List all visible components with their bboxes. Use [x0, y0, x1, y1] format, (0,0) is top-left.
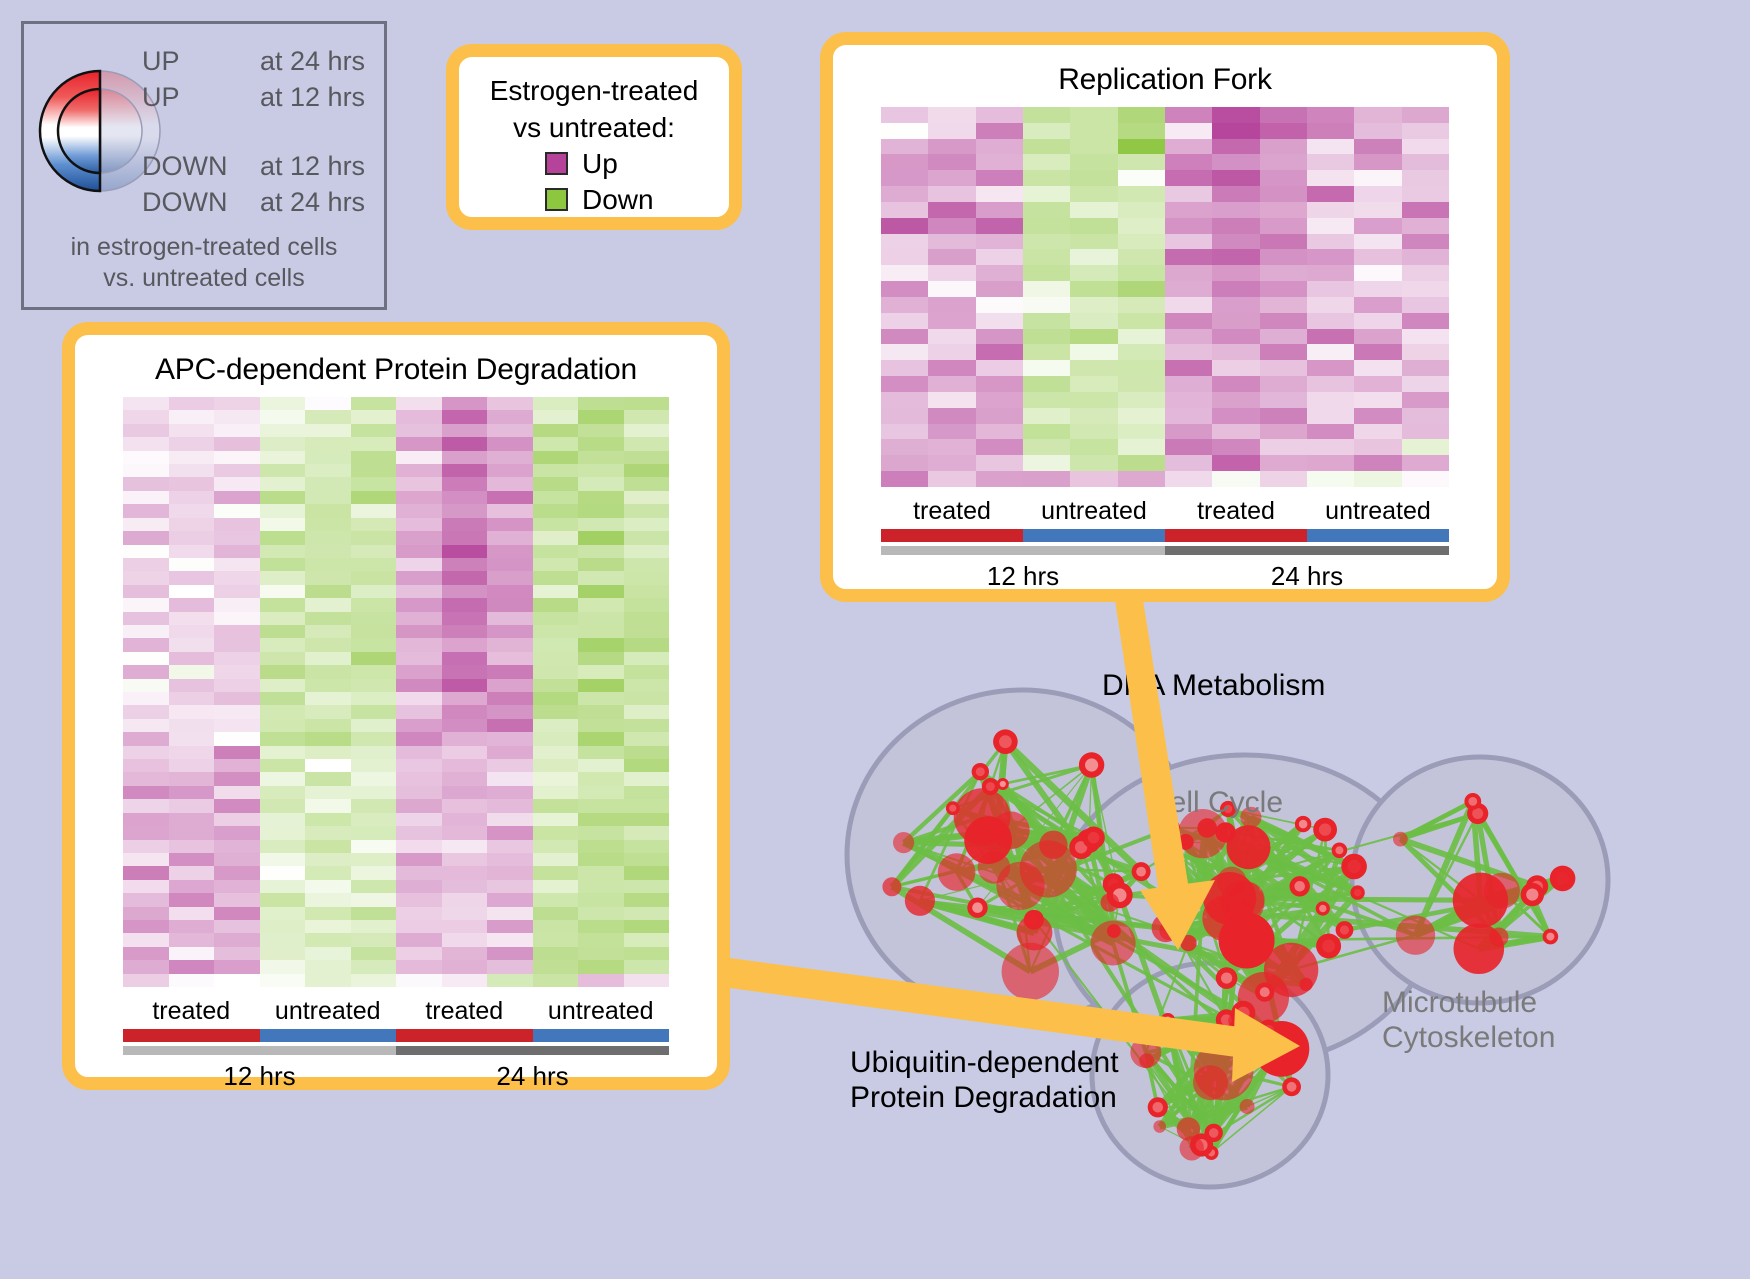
network-node [1017, 915, 1053, 951]
heatmap-cell [305, 571, 351, 584]
heatmap-cell [214, 799, 260, 812]
heatmap-cell [1118, 186, 1165, 202]
heatmap-cell [533, 907, 579, 920]
heatmap-cell [169, 880, 215, 893]
heatmap-cell [1307, 313, 1354, 329]
heatmap-cell [624, 826, 670, 839]
network-node [1101, 893, 1120, 912]
heatmap-cell [1354, 408, 1401, 424]
heatmap-cell [533, 571, 579, 584]
heatmap-cell [214, 451, 260, 464]
heatmap-cell [1070, 360, 1117, 376]
heatmap-cell [1070, 455, 1117, 471]
heatmap-cell [260, 759, 306, 772]
heatmap-cell [487, 772, 533, 785]
heatmap-cell [976, 329, 1023, 345]
heatmap-cell [351, 853, 397, 866]
heatmap-cell [351, 759, 397, 772]
network-node [1228, 1014, 1242, 1028]
heatmap-cell [578, 705, 624, 718]
heatmap-cell [928, 329, 975, 345]
heatmap-cell [442, 585, 488, 598]
heatmap-cell [976, 360, 1023, 376]
heatmap-cell [1402, 234, 1449, 250]
heatmap-cell [1354, 249, 1401, 265]
heatmap-cell [351, 531, 397, 544]
heatmap-cell [1165, 329, 1212, 345]
heatmap-cell [578, 545, 624, 558]
heatmap-cell [1260, 313, 1307, 329]
network-node-fade [1136, 867, 1146, 877]
heatmap-cell [533, 705, 579, 718]
network-node-fade [1165, 846, 1174, 855]
heatmap-cell [1118, 392, 1165, 408]
heatmap-cell [214, 585, 260, 598]
heatmap-cell [396, 772, 442, 785]
apc-panel: APC-dependent Protein Degradation treate… [62, 322, 730, 1090]
heatmap-cell [442, 786, 488, 799]
heatmap-cell [305, 491, 351, 504]
heatmap-cell [1070, 471, 1117, 487]
heatmap-cell [305, 424, 351, 437]
heatmap-cell [260, 840, 306, 853]
apc-time-label-24hrs: 24 hrs [396, 1061, 669, 1092]
heatmap-cell [260, 518, 306, 531]
heatmap-cell [578, 799, 624, 812]
heatmap-cell [260, 772, 306, 785]
heatmap-cell [123, 410, 169, 423]
heatmap-cell [214, 893, 260, 906]
heatmap-cell [881, 392, 928, 408]
heatmap-cell [1165, 297, 1212, 313]
heatmap-cell [1165, 360, 1212, 376]
replication-fork-time-labels: 12 hrs 24 hrs [881, 561, 1449, 592]
heatmap-cell [624, 518, 670, 531]
key-time-down-24: at 24 hrs [260, 187, 365, 217]
heatmap-cell [214, 625, 260, 638]
heatmap-cell [624, 612, 670, 625]
heatmap-cell [578, 437, 624, 450]
heatmap-cell [1070, 202, 1117, 218]
heatmap-cell [533, 625, 579, 638]
heatmap-cell [1402, 123, 1449, 139]
heatmap-cell [123, 652, 169, 665]
heatmap-cell [624, 464, 670, 477]
heatmap-cell [305, 477, 351, 490]
heatmap-cell [169, 786, 215, 799]
heatmap-cell [928, 154, 975, 170]
heatmap-cell [442, 799, 488, 812]
heatmap-cell [123, 826, 169, 839]
heatmap-cell [533, 679, 579, 692]
network-node [1489, 928, 1508, 947]
heatmap-cell [123, 464, 169, 477]
heatmap-cell [260, 679, 306, 692]
heatmap-cell [1260, 249, 1307, 265]
heatmap-cell [214, 518, 260, 531]
heatmap-cell [123, 504, 169, 517]
heatmap-cell [487, 866, 533, 879]
heatmap-cell [260, 880, 306, 893]
heatmap-cell [1307, 154, 1354, 170]
heatmap-cell [123, 397, 169, 410]
heatmap-cell [1023, 186, 1070, 202]
heatmap-cell [396, 665, 442, 678]
heatmap-cell [123, 665, 169, 678]
heatmap-cell [487, 732, 533, 745]
heatmap-cell [533, 947, 579, 960]
heatmap-cell [928, 281, 975, 297]
heatmap-cell [169, 759, 215, 772]
time-bar-24hrs [1165, 546, 1449, 555]
heatmap-cell [260, 451, 306, 464]
heatmap-cell [928, 297, 975, 313]
heatmap-cell [578, 920, 624, 933]
heatmap-cell [442, 665, 488, 678]
heatmap-cell [351, 692, 397, 705]
network-node-fade [1085, 758, 1098, 771]
heatmap-cell [487, 933, 533, 946]
heatmap-cell [1118, 297, 1165, 313]
heatmap-cell [169, 625, 215, 638]
heatmap-cell [881, 202, 928, 218]
group-label-treated-12: treated [881, 497, 1023, 526]
heatmap-cell [214, 665, 260, 678]
network-node-fade [1526, 889, 1538, 901]
heatmap-cell [260, 746, 306, 759]
heatmap-cell [1118, 281, 1165, 297]
heatmap-cell [1260, 234, 1307, 250]
heatmap-cell [533, 558, 579, 571]
heatmap-cell [305, 960, 351, 973]
network-node-fade [949, 805, 956, 812]
heatmap-cell [533, 692, 579, 705]
heatmap-cell [578, 692, 624, 705]
heatmap-cell [1354, 455, 1401, 471]
heatmap-cell [624, 451, 670, 464]
heatmap-cell [305, 464, 351, 477]
heatmap-cell [305, 705, 351, 718]
heatmap-cell [1118, 455, 1165, 471]
heatmap-cell [1118, 123, 1165, 139]
label-ubiquitin-line2: Protein Degradation [850, 1080, 1117, 1115]
heatmap-cell [169, 866, 215, 879]
heatmap-cell [396, 746, 442, 759]
heatmap-cell [487, 504, 533, 517]
heatmap-cell [214, 612, 260, 625]
heatmap-cell [169, 732, 215, 745]
heatmap-cell [1307, 249, 1354, 265]
heatmap-cell [1070, 424, 1117, 440]
heatmap-cell [881, 234, 928, 250]
heatmap-cell [578, 719, 624, 732]
heatmap-cell [305, 612, 351, 625]
heatmap-cell [1165, 313, 1212, 329]
heatmap-cell [396, 638, 442, 651]
heatmap-cell [305, 840, 351, 853]
heatmap-cell [214, 504, 260, 517]
heatmap-cell [1260, 170, 1307, 186]
heatmap-cell [624, 625, 670, 638]
heatmap-cell [624, 437, 670, 450]
heatmap-cell [487, 746, 533, 759]
heatmap-cell [624, 692, 670, 705]
heatmap-cell [578, 772, 624, 785]
heatmap-cell [976, 344, 1023, 360]
heatmap-cell [1260, 329, 1307, 345]
heatmap-cell [123, 732, 169, 745]
heatmap-cell [1402, 170, 1449, 186]
network-node-fade [999, 735, 1012, 748]
heatmap-cell [1212, 360, 1259, 376]
heatmap-cell [487, 705, 533, 718]
heatmap-cell [1118, 139, 1165, 155]
heatmap-cell [487, 558, 533, 571]
heatmap-cell [533, 477, 579, 490]
heatmap-cell [1354, 360, 1401, 376]
heatmap-cell [578, 598, 624, 611]
apc-time-bar-24hrs [396, 1046, 669, 1055]
heatmap-cell [487, 410, 533, 423]
heatmap-cell [928, 265, 975, 281]
heatmap-cell [1307, 471, 1354, 487]
heatmap-cell [624, 974, 670, 987]
heatmap-cell [624, 638, 670, 651]
heatmap-cell [1212, 424, 1259, 440]
heatmap-cell [928, 202, 975, 218]
heatmap-cell [578, 518, 624, 531]
heatmap-cell [1212, 154, 1259, 170]
heatmap-cell [1354, 392, 1401, 408]
heatmap-cell [533, 437, 579, 450]
heatmap-cell [214, 531, 260, 544]
heatmap-cell [1307, 376, 1354, 392]
heatmap-cell [442, 880, 488, 893]
heatmap-cell [1165, 265, 1212, 281]
heatmap-cell [1023, 265, 1070, 281]
heatmap-cell [1118, 107, 1165, 123]
heatmap-cell [624, 410, 670, 423]
heatmap-cell [305, 732, 351, 745]
heatmap-cell [442, 960, 488, 973]
network-node-fade [1209, 1128, 1219, 1138]
heatmap-cell [1118, 408, 1165, 424]
heatmap-cell [123, 518, 169, 531]
heatmap-cell [305, 504, 351, 517]
heatmap-cell [123, 451, 169, 464]
heatmap-cell [976, 123, 1023, 139]
heatmap-cell [1307, 392, 1354, 408]
heatmap-cell [1212, 234, 1259, 250]
heatmap-cell [214, 759, 260, 772]
heatmap-cell [305, 558, 351, 571]
heatmap-cell [928, 313, 975, 329]
heatmap-cell [214, 853, 260, 866]
heatmap-cell [1354, 439, 1401, 455]
heatmap-cell [260, 920, 306, 933]
heatmap-cell [624, 491, 670, 504]
heatmap-cell [881, 170, 928, 186]
heatmap-cell [487, 813, 533, 826]
network-node-fade [1347, 860, 1360, 873]
heatmap-cell [351, 518, 397, 531]
heatmap-cell [976, 170, 1023, 186]
heatmap-cell [260, 907, 306, 920]
heatmap-cell [1023, 234, 1070, 250]
heatmap-cell [881, 329, 928, 345]
heatmap-cell [578, 732, 624, 745]
legend-swatch-down-icon [545, 188, 568, 211]
heatmap-cell [214, 477, 260, 490]
heatmap-cell [305, 813, 351, 826]
heatmap-cell [1118, 265, 1165, 281]
heatmap-cell [624, 799, 670, 812]
heatmap-cell [305, 933, 351, 946]
heatmap-cell [1307, 123, 1354, 139]
heatmap-cell [214, 652, 260, 665]
heatmap-cell [442, 625, 488, 638]
heatmap-cell [928, 360, 975, 376]
replication-fork-time-bars [881, 546, 1449, 555]
heatmap-cell [214, 545, 260, 558]
network-node [938, 853, 976, 891]
heatmap-cell [1402, 249, 1449, 265]
heatmap-cell [487, 424, 533, 437]
heatmap-cell [1023, 218, 1070, 234]
heatmap-cell [624, 531, 670, 544]
heatmap-cell [123, 907, 169, 920]
heatmap-cell [214, 705, 260, 718]
heatmap-cell [1212, 123, 1259, 139]
heatmap-cell [305, 947, 351, 960]
heatmap-cell [533, 772, 579, 785]
apc-group-label-treated-12: treated [123, 997, 260, 1026]
heatmap-cell [624, 853, 670, 866]
heatmap-cell [1165, 471, 1212, 487]
heatmap-cell [1023, 408, 1070, 424]
heatmap-cell [351, 813, 397, 826]
label-ubiquitin-line1: Ubiquitin-dependent [850, 1045, 1119, 1080]
network-node-fade [1354, 889, 1361, 896]
heatmap-cell [881, 107, 928, 123]
heatmap-cell [396, 397, 442, 410]
heatmap-cell [1023, 424, 1070, 440]
apc-group-label-treated-24: treated [396, 997, 533, 1026]
heatmap-cell [578, 947, 624, 960]
heatmap-cell [928, 471, 975, 487]
legend-item-down: Down [545, 184, 729, 216]
heatmap-cell [976, 186, 1023, 202]
heatmap-cell [1260, 344, 1307, 360]
heatmap-cell [442, 920, 488, 933]
network-node-fade [1322, 940, 1335, 953]
heatmap-cell [881, 439, 928, 455]
heatmap-cell [1212, 218, 1259, 234]
heatmap-cell [578, 625, 624, 638]
heatmap-cell [305, 826, 351, 839]
apc-time-bar-12hrs [123, 1046, 396, 1055]
heatmap-cell [305, 920, 351, 933]
heatmap-cell [487, 893, 533, 906]
heatmap-cell [624, 920, 670, 933]
heatmap-cell [487, 826, 533, 839]
heatmap-cell [1023, 297, 1070, 313]
replication-fork-group-bars [881, 529, 1449, 542]
heatmap-cell [214, 933, 260, 946]
heatmap-cell [351, 772, 397, 785]
heatmap-cell [260, 545, 306, 558]
heatmap-cell [351, 907, 397, 920]
heatmap-cell [1118, 360, 1165, 376]
network-node-fade [1335, 846, 1343, 854]
heatmap-cell [169, 719, 215, 732]
heatmap-cell [260, 960, 306, 973]
heatmap-cell [578, 638, 624, 651]
heatmap-cell [305, 719, 351, 732]
heatmap-cell [1118, 329, 1165, 345]
replication-fork-heatmap-wrap: treated untreated treated untreated 12 h… [881, 107, 1449, 592]
network-node-fade [986, 782, 995, 791]
heatmap-cell [1165, 186, 1212, 202]
heatmap-cell [578, 786, 624, 799]
heatmap-cell [214, 840, 260, 853]
heatmap-cell [1260, 154, 1307, 170]
network-node [1299, 978, 1312, 991]
heatmap-cell [442, 853, 488, 866]
heatmap-cell [214, 907, 260, 920]
heatmap-cell [214, 410, 260, 423]
heatmap-cell [533, 545, 579, 558]
heatmap-cell [442, 826, 488, 839]
heatmap-cell [1118, 170, 1165, 186]
apc-time-label-12hrs: 12 hrs [123, 1061, 396, 1092]
heatmap-cell [1402, 471, 1449, 487]
apc-time-bars [123, 1046, 669, 1055]
heatmap-cell [351, 638, 397, 651]
heatmap-cell [351, 880, 397, 893]
heatmap-cell [442, 759, 488, 772]
heatmap-cell [169, 477, 215, 490]
heatmap-cell [214, 558, 260, 571]
heatmap-cell [169, 772, 215, 785]
heatmap-cell [169, 531, 215, 544]
heatmap-cell [396, 424, 442, 437]
heatmap-cell [396, 451, 442, 464]
heatmap-cell [624, 571, 670, 584]
heatmap-cell [169, 947, 215, 960]
heatmap-cell [1212, 265, 1259, 281]
heatmap-cell [396, 719, 442, 732]
heatmap-cell [169, 652, 215, 665]
heatmap-cell [1260, 360, 1307, 376]
network-node [1139, 1053, 1154, 1068]
heatmap-cell [578, 974, 624, 987]
heatmap-cell [487, 518, 533, 531]
heatmap-cell [487, 464, 533, 477]
heatmap-cell [1118, 376, 1165, 392]
heatmap-cell [305, 893, 351, 906]
heatmap-cell [169, 598, 215, 611]
heatmap-cell [260, 625, 306, 638]
network-node-fade [1546, 933, 1554, 941]
heatmap-cell [396, 598, 442, 611]
network-node [1002, 943, 1059, 1000]
heatmap-cell [1307, 329, 1354, 345]
heatmap-cell [1354, 170, 1401, 186]
key-row-down-24: DOWNat 24 hrs [142, 187, 365, 218]
heatmap-cell [123, 679, 169, 692]
heatmap-cell [1023, 139, 1070, 155]
